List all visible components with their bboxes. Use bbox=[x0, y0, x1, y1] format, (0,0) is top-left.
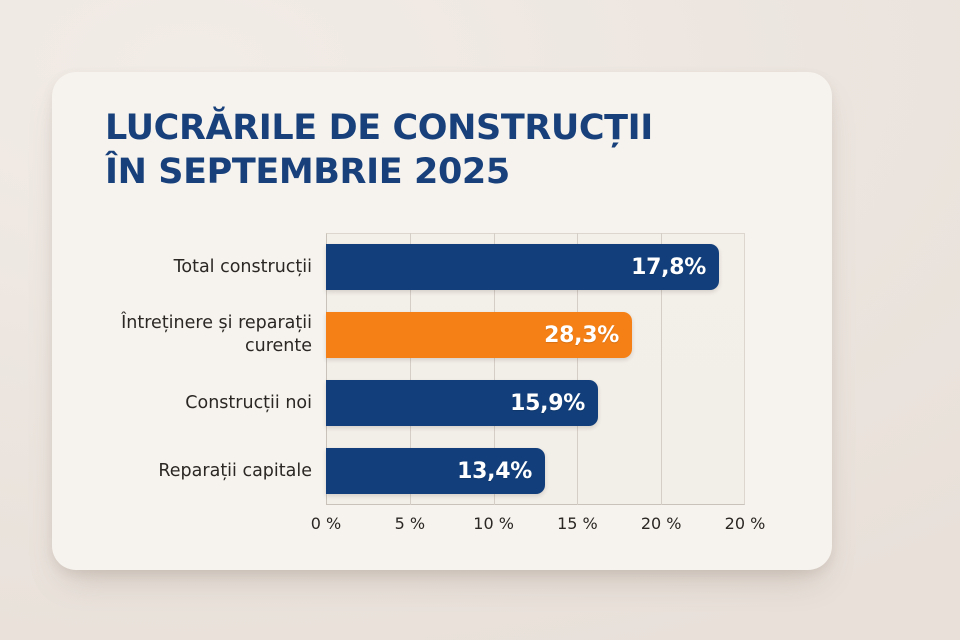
x-tick-label: 20 % bbox=[725, 514, 766, 533]
plot-area: Total construcții17,8%Întreținere și rep… bbox=[326, 233, 745, 505]
category-label: Întreținere și reparații curente bbox=[62, 301, 312, 369]
x-axis: 0 %5 %10 %15 %20 %20 % bbox=[326, 505, 745, 541]
category-label: Reparații capitale bbox=[62, 437, 312, 505]
bar[interactable]: 15,9% bbox=[326, 380, 598, 426]
x-tick-label: 15 % bbox=[557, 514, 598, 533]
bar-value-label: 13,4% bbox=[457, 459, 532, 484]
page-root: LUCRĂRILE DE CONSTRUCȚII ÎN SEPTEMBRIE 2… bbox=[0, 0, 960, 640]
bar[interactable]: 17,8% bbox=[326, 244, 719, 290]
chart-card: LUCRĂRILE DE CONSTRUCȚII ÎN SEPTEMBRIE 2… bbox=[52, 72, 832, 570]
x-tick-label: 0 % bbox=[311, 514, 341, 533]
bar[interactable]: 13,4% bbox=[326, 448, 545, 494]
bar-row: Construcții noi15,9% bbox=[326, 369, 745, 437]
bar-chart: Total construcții17,8%Întreținere și rep… bbox=[52, 72, 832, 570]
x-tick-label: 20 % bbox=[641, 514, 682, 533]
category-label: Total construcții bbox=[62, 233, 312, 301]
bar-container: 17,8% bbox=[326, 244, 719, 290]
bar-value-label: 15,9% bbox=[510, 391, 585, 416]
bar-container: 13,4% bbox=[326, 448, 545, 494]
bar-value-label: 17,8% bbox=[631, 255, 706, 280]
x-tick-label: 5 % bbox=[395, 514, 425, 533]
bar-container: 28,3% bbox=[326, 312, 632, 358]
category-label: Construcții noi bbox=[62, 369, 312, 437]
bar-container: 15,9% bbox=[326, 380, 598, 426]
bar-value-label: 28,3% bbox=[544, 323, 619, 348]
x-tick-label: 10 % bbox=[473, 514, 514, 533]
bar-row: Întreținere și reparații curente28,3% bbox=[326, 301, 745, 369]
bar-row: Total construcții17,8% bbox=[326, 233, 745, 301]
bar-row: Reparații capitale13,4% bbox=[326, 437, 745, 505]
bar[interactable]: 28,3% bbox=[326, 312, 632, 358]
